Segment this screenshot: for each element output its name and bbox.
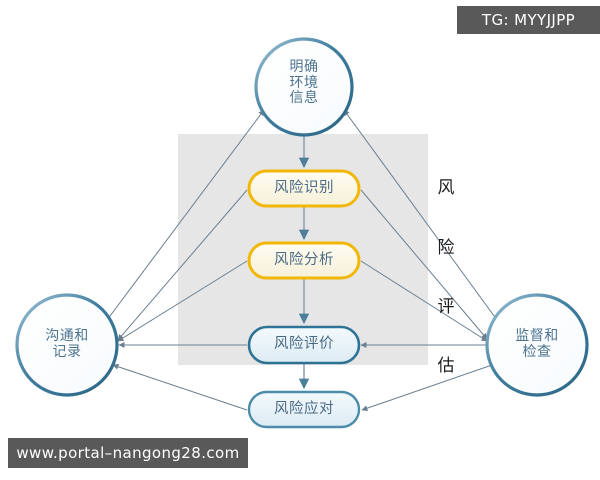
node-risk-identification[interactable] [249,171,359,206]
panel-label-char-3: 评 [434,298,458,318]
panel-label-char-2: 险 [434,239,458,259]
diagram-canvas: 明确 环境 信息 沟通和 记录 监督和 检查 风险识别 风险分析 风险评价 风险… [0,0,600,480]
arrow-response-to-communication [113,365,247,410]
panel-label-char-4: 估 [434,357,458,377]
panel-label-risk-assessment: 风 险 评 估 [434,140,458,416]
panel-label-char-1: 风 [434,179,458,199]
node-communication-record[interactable] [17,295,117,395]
arrow-supervision-to-response [362,365,492,410]
site-watermark-badge: www.portal–nangong28.com [8,438,248,468]
node-clarify-environment[interactable] [256,39,352,135]
risk-management-flow-diagram [0,0,600,480]
node-risk-response[interactable] [249,392,359,427]
node-risk-evaluation[interactable] [249,327,359,363]
node-supervision-inspection[interactable] [487,295,587,395]
node-risk-analysis[interactable] [249,243,359,278]
tg-watermark-badge: TG: MYYJJPP [457,6,600,34]
